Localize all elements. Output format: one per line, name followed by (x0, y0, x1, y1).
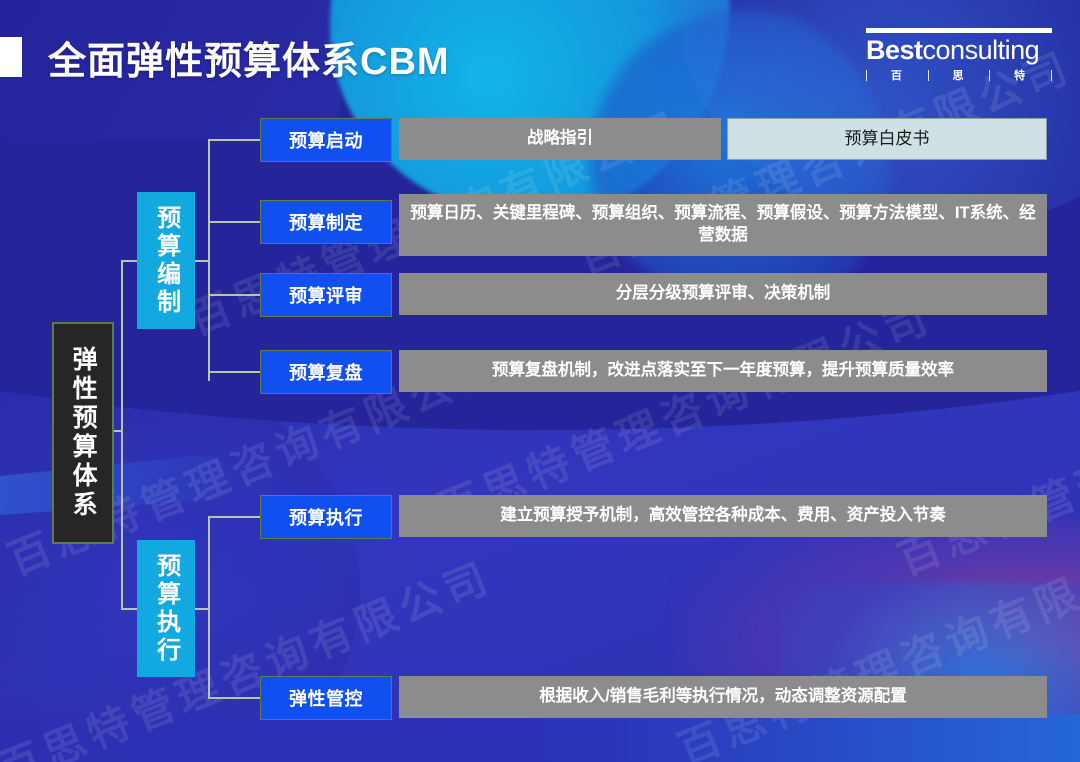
connector-to-category-0 (121, 260, 137, 262)
logo-divider-icon (989, 70, 990, 81)
description-text: 根据收入/销售毛利等执行情况，动态调整资源配置 (539, 686, 907, 708)
description-text: 预算白皮书 (845, 128, 930, 150)
logo-brand-bold: Best (866, 35, 923, 65)
description-budget-review[interactable]: 分层分级预算评审、决策机制 (399, 273, 1047, 315)
background-bottom-strip (0, 714, 1080, 762)
title-accent-bar (0, 37, 22, 77)
connector-leaf-1 (208, 221, 260, 223)
leaf-node-label: 预算制定 (289, 209, 363, 235)
description-budget-whitepaper[interactable]: 预算白皮书 (727, 118, 1047, 160)
leaf-node-budget-execution[interactable]: 预算执行 (260, 495, 392, 539)
description-text: 分层分级预算评审、决策机制 (616, 283, 831, 305)
category-node-budgeting[interactable]: 预算编制 (137, 192, 195, 329)
logo-cn-2: 思 (952, 67, 965, 83)
description-flexible-control[interactable]: 根据收入/销售毛利等执行情况，动态调整资源配置 (399, 676, 1047, 718)
connector-to-category-1 (121, 608, 137, 610)
root-node[interactable]: 弹性预算体系 (52, 322, 114, 544)
description-text: 战略指引 (527, 128, 593, 150)
leaf-node-label: 弹性管控 (289, 685, 363, 711)
connector-leaf-4 (208, 516, 260, 518)
logo-brand-light: consulting (923, 35, 1040, 65)
description-budget-plan[interactable]: 预算日历、关键里程碑、预算组织、预算流程、预算假设、预算方法模型、IT系统、经营… (399, 194, 1047, 256)
leaf-node-budget-retrospective[interactable]: 预算复盘 (260, 350, 392, 394)
description-budget-retrospective[interactable]: 预算复盘机制，改进点落实至下一年度预算，提升预算质量效率 (399, 350, 1047, 392)
slide-canvas: 百思特管理咨询有限公司 百思特管理咨询有限公司 百思特管理咨询有限公司 百思特管… (0, 0, 1080, 762)
logo-chinese-name: 百 思 特 (866, 67, 1052, 83)
category-node-label: 预算执行 (153, 553, 178, 665)
leaf-node-label: 预算复盘 (289, 359, 363, 385)
category-node-execution[interactable]: 预算执行 (137, 540, 195, 677)
connector-category-0-stub (195, 260, 209, 262)
connector-category-1-stub (195, 608, 209, 610)
leaf-node-budget-review[interactable]: 预算评审 (260, 273, 392, 317)
connector-leaf-2 (208, 294, 260, 296)
connector-leaf-0 (208, 139, 260, 141)
logo-rule (866, 28, 1052, 33)
connector-branch-1 (208, 516, 210, 698)
logo-divider-icon (1051, 70, 1052, 81)
leaf-node-label: 预算评审 (289, 282, 363, 308)
leaf-node-label: 预算启动 (289, 127, 363, 153)
logo-divider-icon (928, 70, 929, 81)
description-text: 预算日历、关键里程碑、预算组织、预算流程、预算假设、预算方法模型、IT系统、经营… (409, 203, 1037, 247)
leaf-node-budget-start[interactable]: 预算启动 (260, 118, 392, 162)
logo-divider-icon (866, 70, 867, 81)
description-strategy-guide[interactable]: 战略指引 (399, 118, 721, 160)
page-title: 全面弹性预算体系CBM (48, 30, 450, 85)
leaf-node-label: 预算执行 (289, 504, 363, 530)
category-node-label: 预算编制 (153, 205, 178, 317)
connector-branch-0 (208, 139, 210, 381)
connector-leaf-5 (208, 697, 260, 699)
connector-leaf-3 (208, 371, 260, 373)
logo-cn-1: 百 (891, 67, 904, 83)
connector-root-trunk (121, 260, 123, 608)
leaf-node-flexible-control[interactable]: 弹性管控 (260, 676, 392, 720)
logo-wordmark: Bestconsulting (866, 35, 1052, 65)
description-text: 建立预算授予机制，高效管控各种成本、费用、资产投入节奏 (500, 505, 946, 527)
root-node-label: 弹性预算体系 (70, 346, 96, 520)
description-budget-execution[interactable]: 建立预算授予机制，高效管控各种成本、费用、资产投入节奏 (399, 495, 1047, 537)
company-logo: Bestconsulting 百 思 特 (866, 28, 1052, 83)
logo-cn-3: 特 (1014, 67, 1027, 83)
description-text: 预算复盘机制，改进点落实至下一年度预算，提升预算质量效率 (492, 360, 954, 382)
leaf-node-budget-plan[interactable]: 预算制定 (260, 200, 392, 244)
